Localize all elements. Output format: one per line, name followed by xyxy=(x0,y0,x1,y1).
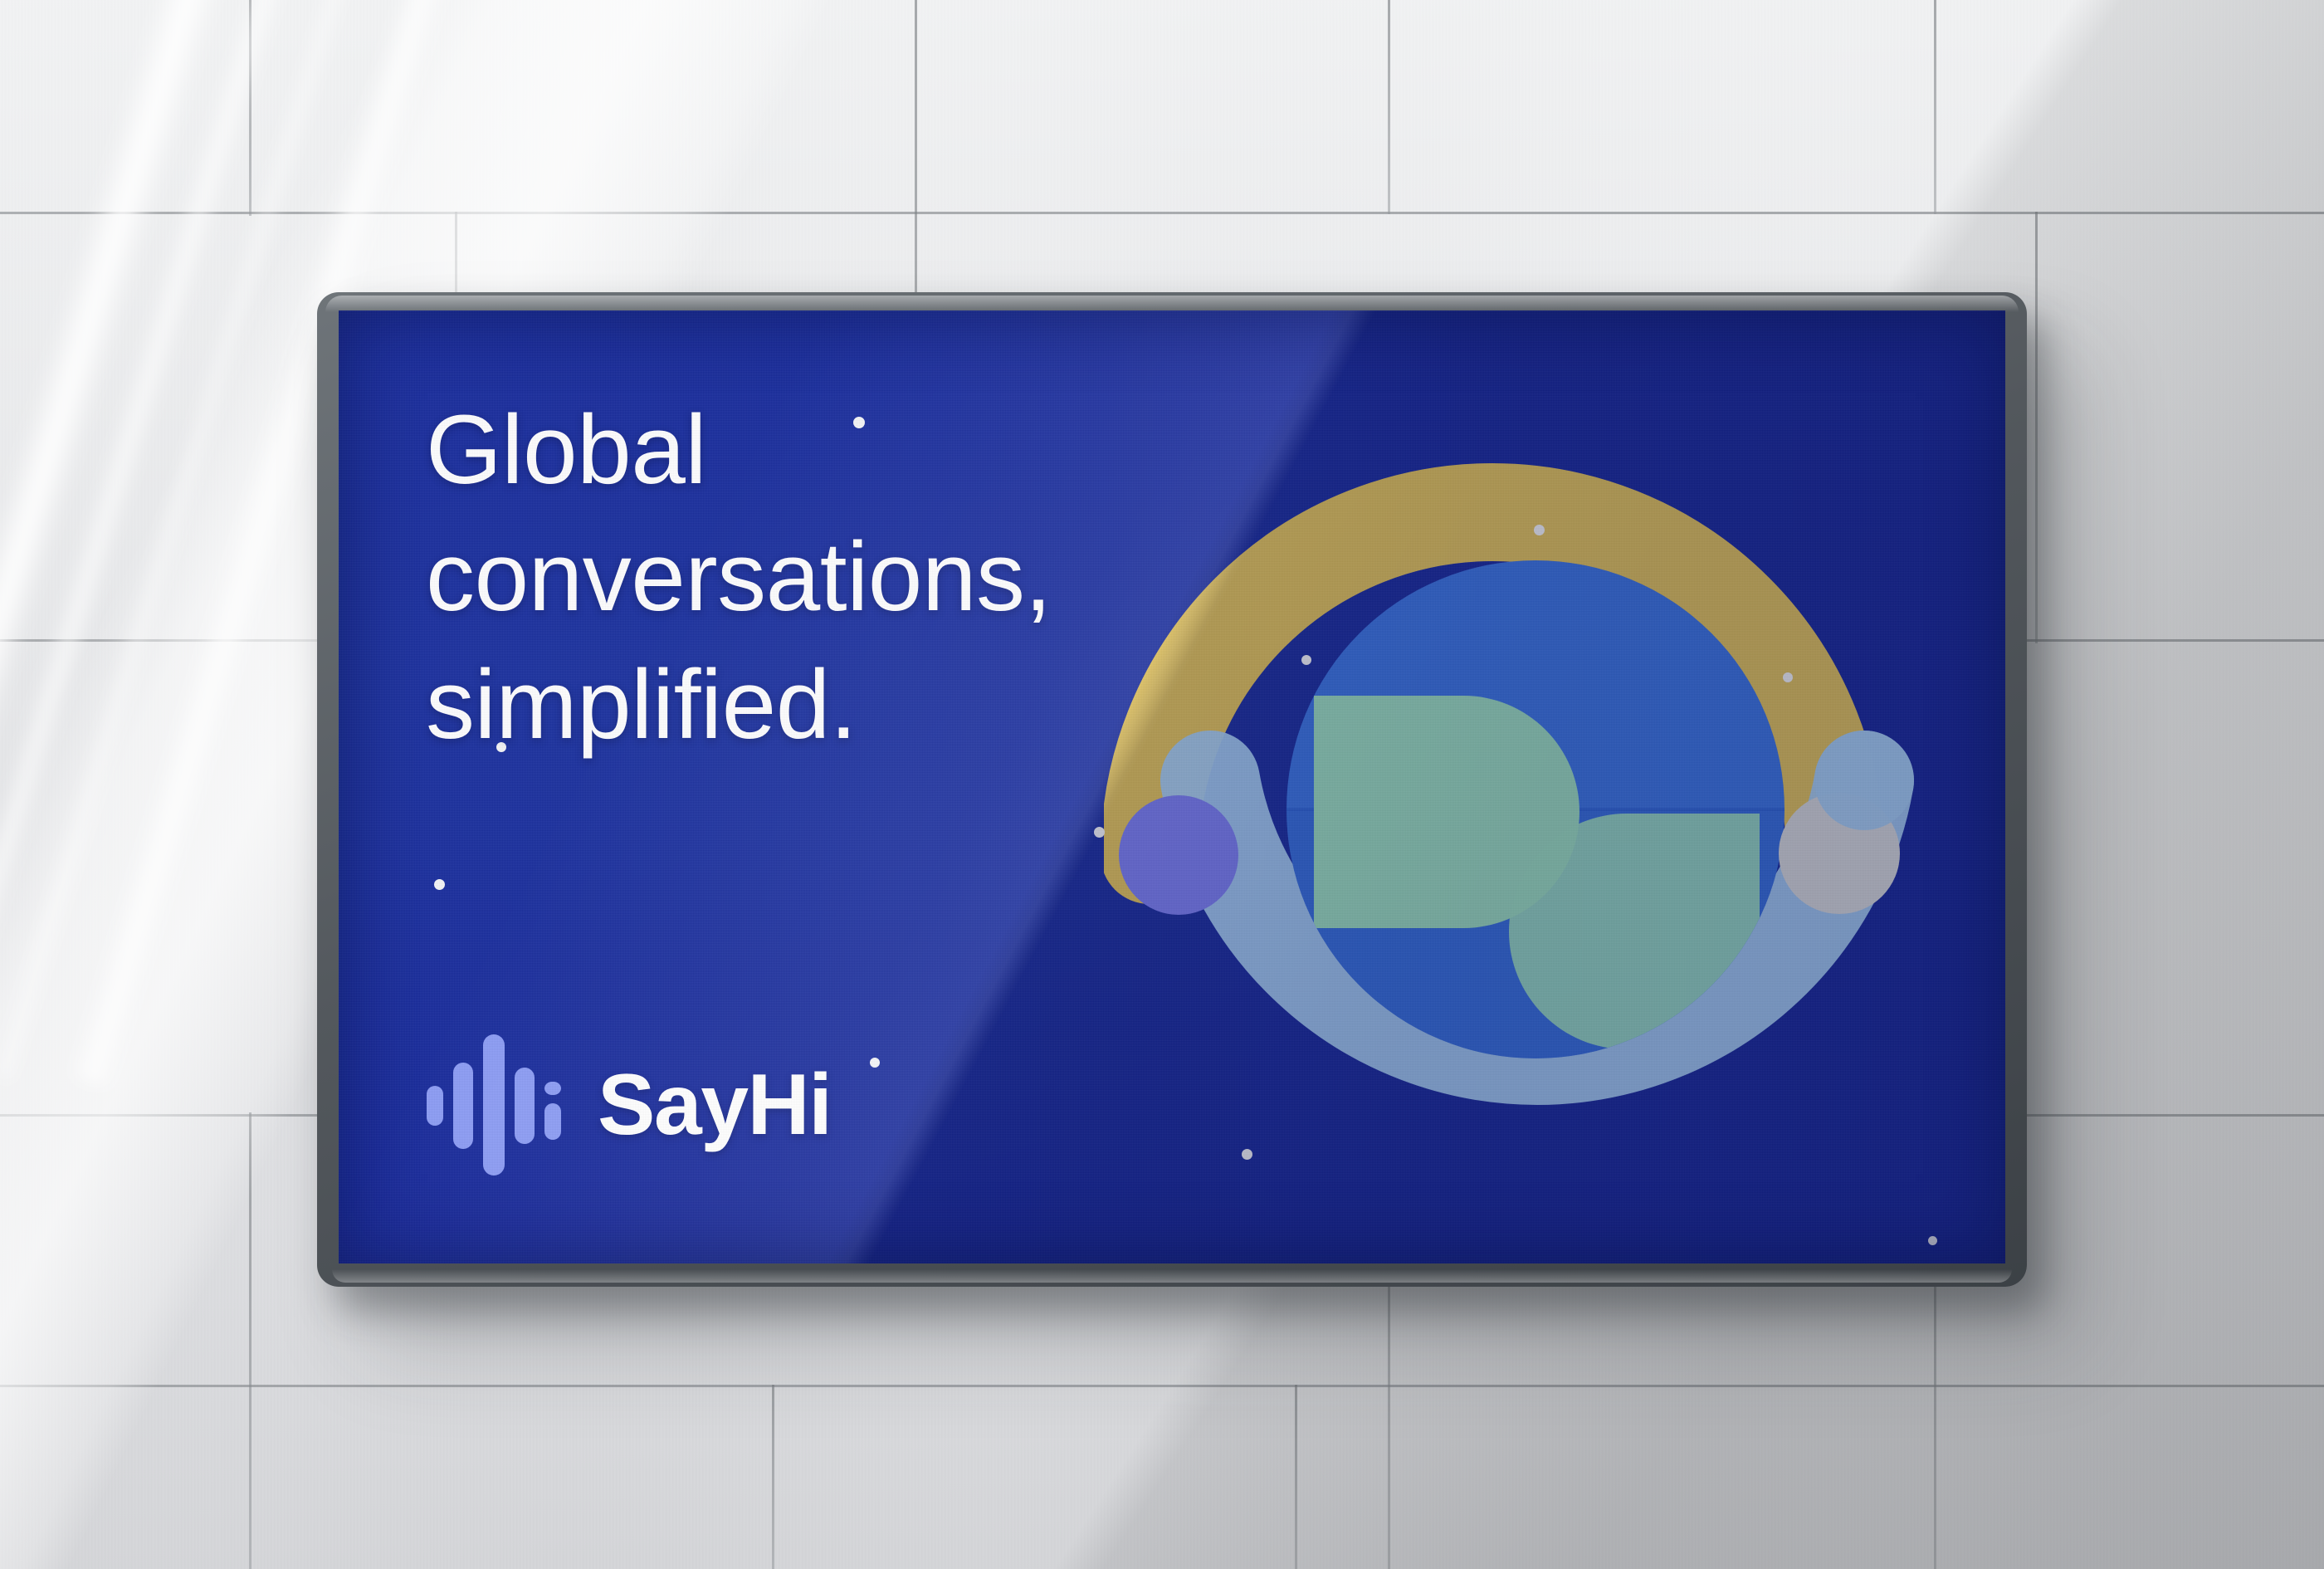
headline-line-1: Global xyxy=(426,387,1106,514)
decorative-dot xyxy=(1928,1236,1937,1245)
poster-headline: Global conversations, simplified. xyxy=(426,387,1106,769)
light-blue-arc-cap xyxy=(1814,731,1914,830)
billboard-mockup-scene: Global conversations, simplified. xyxy=(0,0,2324,1569)
billboard-frame: Global conversations, simplified. xyxy=(317,292,2027,1287)
headline-line-2: conversations, xyxy=(426,514,1106,641)
frame-bottom-highlight xyxy=(332,1269,2012,1283)
decorative-dot xyxy=(870,1058,880,1068)
brand-logo-lockup: SayHi xyxy=(427,1034,832,1176)
headline-line-3: simplified. xyxy=(426,642,1106,769)
periwinkle-dot xyxy=(1119,795,1238,915)
soundwave-icon xyxy=(427,1034,566,1176)
poster-artwork: Global conversations, simplified. xyxy=(339,310,2005,1264)
brand-name: SayHi xyxy=(598,1062,832,1148)
decorative-dot xyxy=(434,879,445,890)
globe-conversation-mark xyxy=(1104,390,1934,1220)
